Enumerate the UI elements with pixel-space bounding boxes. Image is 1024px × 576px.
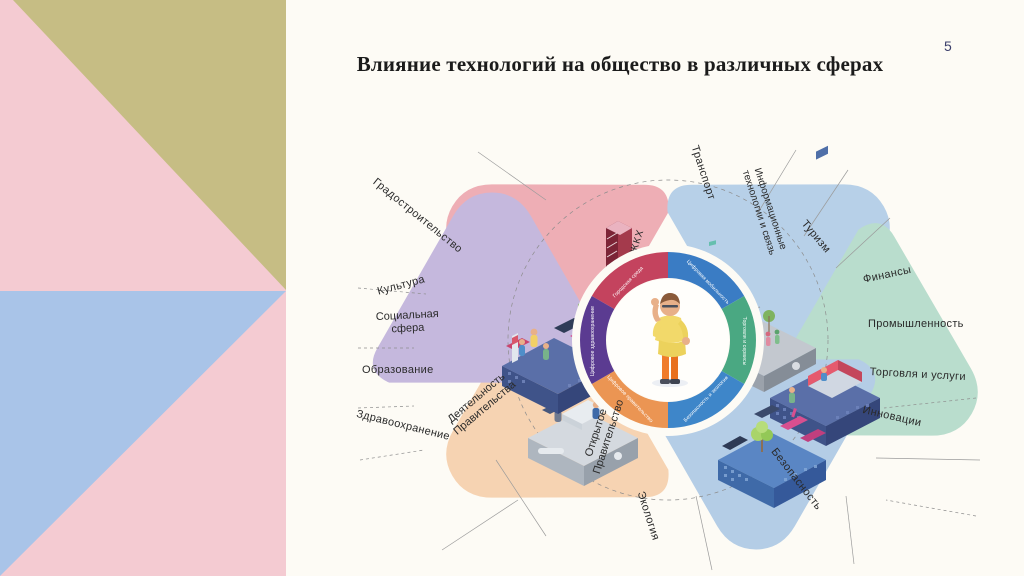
infographic-diagram: ЖКХ xyxy=(356,108,980,572)
decorative-corner-shapes xyxy=(0,0,300,576)
ring-label-health: Цифровое здравоохранение xyxy=(590,306,596,376)
page-number: 5 xyxy=(944,38,952,54)
slide-canvas: 5 Влияние технологий на общество в разли… xyxy=(0,0,1024,576)
ring-label-commerce: Торговля и сервисы xyxy=(741,317,747,366)
page-title: Влияние технологий на общество в различн… xyxy=(300,52,940,77)
